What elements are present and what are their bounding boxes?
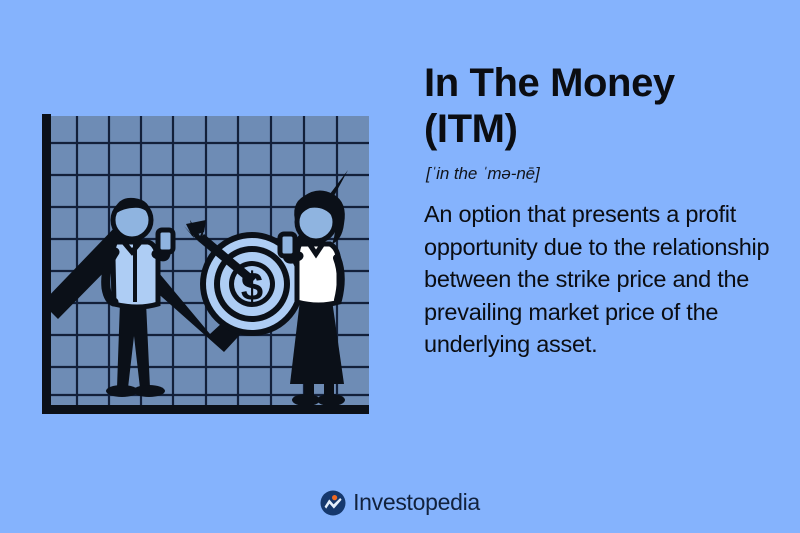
definition-text: An option that presents a profit opportu… [424,198,780,361]
stock-chart-illustration: $ [28,112,376,420]
brand-logo: Investopedia [0,489,800,516]
definition-text-column: In The Money (ITM) [ˈin the ˈmə-nē] An o… [424,60,780,361]
definition-card: $ [0,0,800,533]
page-title: In The Money (ITM) [424,60,780,152]
pronunciation: [ˈin the ˈmə-nē] [426,164,780,184]
investopedia-logo-icon [320,490,346,516]
brand-name: Investopedia [353,489,480,516]
